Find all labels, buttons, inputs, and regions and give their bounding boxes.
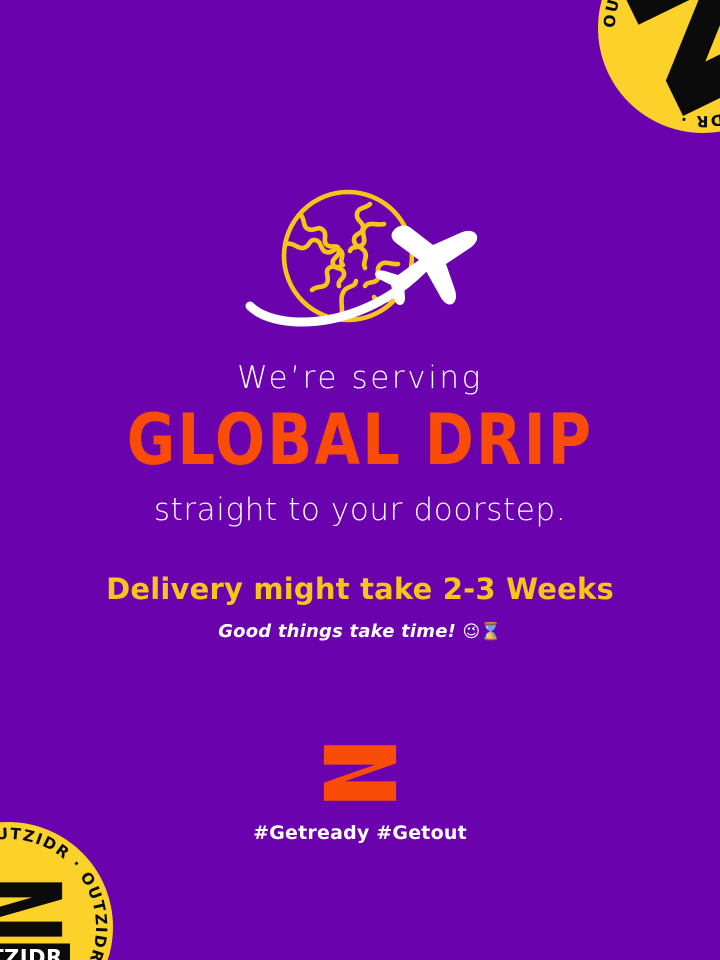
z-monogram-icon: [321, 744, 399, 802]
badge-wordmark: OUTZIDR: [0, 944, 70, 960]
badge-top-right: OUTZIDR · OUTZIDR · OUTZIDR · OUTZIDR · …: [598, 0, 720, 133]
eyebrow-text: We’re serving: [0, 362, 720, 395]
poster-canvas: OUTZIDR · OUTZIDR · OUTZIDR · OUTZIDR · …: [0, 0, 720, 960]
hashtags: #Getready #Getout: [253, 822, 467, 844]
page-title: GLOBAL DRIP: [0, 402, 720, 476]
tagline-text: Good things take time!: [218, 621, 456, 642]
tagline: Good things take time! 😉⌛: [0, 623, 720, 642]
hero-illustration: [0, 172, 720, 340]
globe-with-airplane-icon: [238, 172, 482, 340]
copy-block: We’re serving GLOBAL DRIP straight to yo…: [0, 362, 720, 642]
wink-hourglass-emoji: 😉⌛: [463, 622, 502, 642]
delivery-notice: Delivery might take 2-3 Weeks: [0, 574, 720, 604]
footer-lockup: #Getready #Getout: [0, 744, 720, 844]
badge-core-bottom-left: OUTZIDR: [0, 881, 78, 960]
subhead-text: straight to your doorstep.: [0, 494, 720, 527]
z-monogram-icon: [0, 881, 64, 939]
